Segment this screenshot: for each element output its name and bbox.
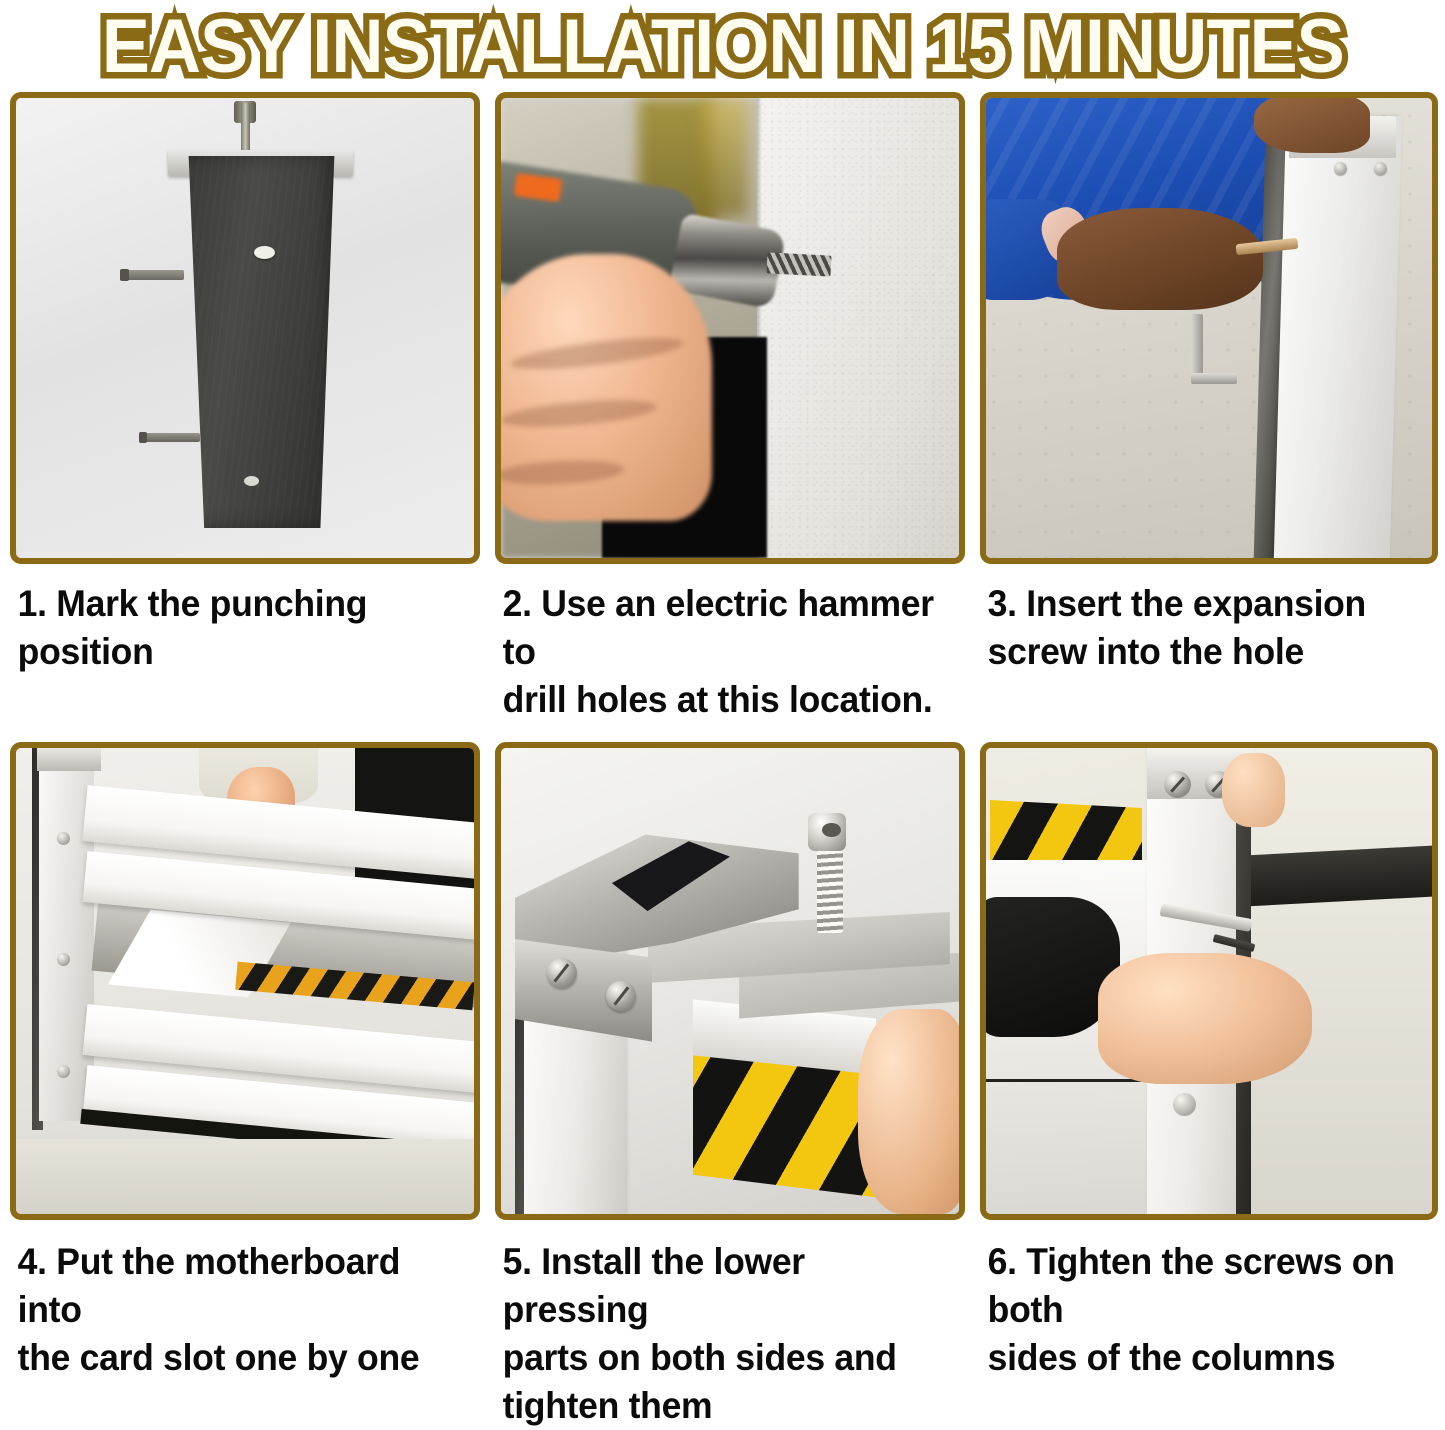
side-bolt-lower bbox=[144, 433, 200, 442]
hand bbox=[1098, 953, 1312, 1083]
row-spacer bbox=[495, 724, 965, 742]
photo-install-pressing-parts bbox=[501, 748, 959, 1214]
step-caption-4: 4. Put the motherboard into the card slo… bbox=[10, 1220, 461, 1382]
dark-column-body bbox=[184, 156, 339, 528]
step-card-2: 2. Use an electric hammer to drill holes… bbox=[495, 92, 965, 724]
hand bbox=[858, 1009, 959, 1214]
hand bbox=[1057, 208, 1262, 309]
step-caption-5: 5. Install the lower pressing parts on b… bbox=[495, 1220, 946, 1430]
photo-frame-4 bbox=[10, 742, 480, 1220]
hazard-stripe bbox=[990, 800, 1142, 869]
drill-bit-icon bbox=[766, 253, 831, 277]
allen-key-icon bbox=[1191, 314, 1203, 384]
installation-steps-grid: 1. Mark the punching position 2. Use an … bbox=[0, 92, 1445, 1430]
photo-insert-boards-into-slot bbox=[16, 748, 474, 1214]
photo-drill-holes bbox=[501, 98, 959, 558]
photo-frame-6 bbox=[980, 742, 1438, 1220]
bolt-thread bbox=[817, 851, 843, 933]
white-wall-surface bbox=[757, 98, 959, 558]
step-caption-2: 2. Use an electric hammer to drill holes… bbox=[495, 564, 946, 724]
hand bbox=[1254, 98, 1370, 153]
photo-frame-3 bbox=[980, 92, 1438, 564]
step-caption-3: 3. Insert the expansion screw into the h… bbox=[980, 564, 1420, 676]
page-title: EASY INSTALLATION IN 15 MINUTES bbox=[101, 9, 1343, 85]
step-caption-6: 6. Tighten the screws on both sides of t… bbox=[980, 1220, 1420, 1382]
step-caption-1: 1. Mark the punching position bbox=[10, 564, 461, 676]
photo-mark-punching-position bbox=[16, 98, 474, 558]
row-spacer bbox=[10, 724, 480, 742]
header-banner: EASY INSTALLATION IN 15 MINUTES bbox=[0, 0, 1445, 92]
photo-frame-2 bbox=[495, 92, 965, 564]
white-column bbox=[1274, 116, 1402, 558]
photo-insert-expansion-screw bbox=[986, 98, 1432, 558]
step-card-3: 3. Insert the expansion screw into the h… bbox=[980, 92, 1438, 724]
photo-frame-5 bbox=[495, 742, 965, 1220]
photo-frame-1 bbox=[10, 92, 480, 564]
step-card-1: 1. Mark the punching position bbox=[10, 92, 480, 724]
step-card-6: 6. Tighten the screws on both sides of t… bbox=[980, 742, 1438, 1430]
side-bolt-upper bbox=[126, 270, 184, 280]
screw-icon bbox=[547, 958, 577, 988]
threaded-rod bbox=[241, 103, 250, 155]
screw-icon bbox=[1173, 1093, 1196, 1116]
row-spacer bbox=[980, 724, 1438, 742]
mounting-hole-upper bbox=[254, 246, 275, 259]
column-top-cap bbox=[37, 748, 101, 771]
step-card-4: 4. Put the motherboard into the card slo… bbox=[10, 742, 480, 1430]
mounting-hole-lower bbox=[244, 476, 259, 486]
step-card-5: 5. Install the lower pressing parts on b… bbox=[495, 742, 965, 1430]
hand bbox=[1222, 753, 1284, 828]
photo-tighten-screws bbox=[986, 748, 1432, 1214]
